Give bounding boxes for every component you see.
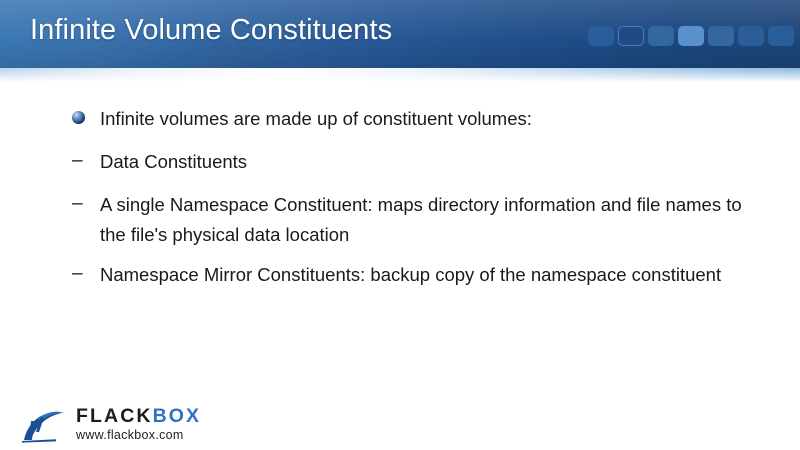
bullet-text: Infinite volumes are made up of constitu… [100,104,772,134]
dash-bullet-icon: – [72,260,85,287]
page-title: Infinite Volume Constituents [30,14,392,47]
logo-word-box: BOX [153,405,202,427]
decor-square-6 [738,26,764,46]
logo-word-line: FLACKBOX [76,405,201,427]
decor-square-3 [648,26,674,46]
bullet-text: A single Namespace Constituent: maps dir… [100,190,772,250]
header-underband [0,68,800,82]
list-item: – Data Constituents [72,147,772,177]
decor-square-7 [768,26,794,46]
decor-square-4 [678,26,704,46]
list-item: – A single Namespace Constituent: maps d… [72,190,772,250]
dash-bullet-icon: – [72,190,85,217]
slide: Infinite Volume Constituents Infinite vo… [0,0,800,450]
flackbox-swoosh-icon [22,406,72,444]
flackbox-wordmark: FLACKBOX www.flackbox.com [76,405,201,443]
decor-square-1 [588,26,614,46]
decor-square-2 [618,26,644,46]
logo-url: www.flackbox.com [76,428,201,443]
logo-word-flack: FLACK [76,405,153,427]
flackbox-logo: FLACKBOX www.flackbox.com [22,402,212,446]
list-item: – Namespace Mirror Constituents: backup … [72,260,772,290]
decor-square-5 [708,26,734,46]
sphere-bullet-icon [72,111,85,124]
bullet-text: Namespace Mirror Constituents: backup co… [100,260,772,290]
bullet-text: Data Constituents [100,147,772,177]
list-item: Infinite volumes are made up of constitu… [72,104,772,134]
header-underband-fade [0,68,800,82]
header-decor-squares [588,26,794,46]
slide-header: Infinite Volume Constituents [0,0,800,68]
dash-bullet-icon: – [72,147,85,174]
slide-content: Infinite volumes are made up of constitu… [72,104,772,303]
